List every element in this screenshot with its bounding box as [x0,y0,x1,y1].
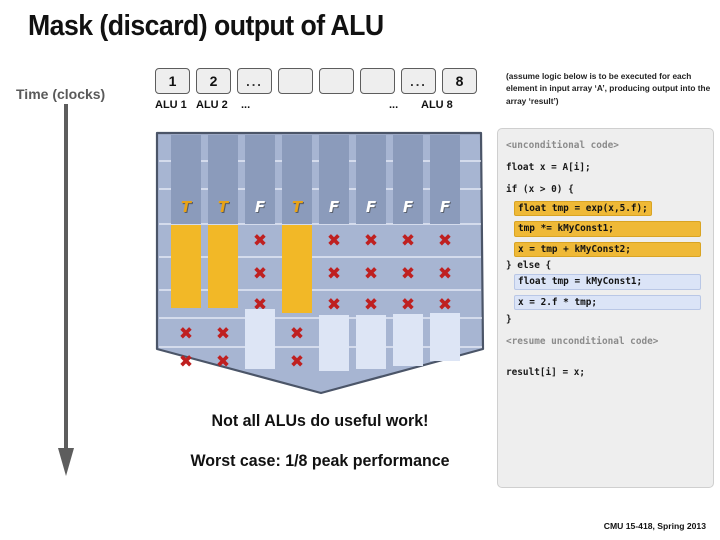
caption-line-1: Not all ALUs do useful work! [151,411,489,431]
mask-letter-col5: F [319,191,349,223]
else-branch-block-col3 [245,309,275,369]
masked-x-r4c3: ✖ [245,225,275,257]
code-line-8: } else { [506,258,707,273]
alu-name-dots-right: ... [389,99,398,111]
alu-name-row: ALU 1 ALU 2 ... ... ALU 8 [155,99,485,115]
masked-x-r5c8: ✖ [430,258,460,290]
code-text-6: tmp *= kMyConst1; [514,221,701,236]
if-branch-block-col4 [282,225,312,313]
alu-name-dots-left: ... [241,99,250,111]
masked-x-r5c3: ✖ [245,258,275,290]
alu-box-8[interactable]: 8 [442,68,477,94]
alu-box-2[interactable]: 2 [196,68,231,94]
code-gap-12 [506,327,707,334]
page-title: Mask (discard) output of ALU [28,10,384,43]
alu-header: 1 2 ... ... 8 ALU 1 ALU 2 ... ... ALU 8 [155,68,485,120]
code-line-10: x = 2.f * tmp; [506,295,707,310]
code-gap-3 [506,175,707,182]
alu-box-dots-left[interactable]: ... [237,68,272,94]
code-text-11: } [506,315,512,324]
masked-x-r4c8: ✖ [430,225,460,257]
masked-x-r7c2: ✖ [208,319,238,349]
slide-root: Mask (discard) output of ALU Time (clock… [0,0,720,540]
code-panel[interactable]: <unconditional code> float x = A[i]; if … [497,128,714,488]
else-branch-block-col7 [393,314,423,366]
code-line-13: <resume unconditional code> [506,334,707,349]
mask-letter-col8: F [430,191,460,223]
caption-line-2: Worst case: 1/8 peak performance [151,451,489,471]
code-line-0: <unconditional code> [506,138,707,153]
else-branch-block-col8 [430,313,460,361]
assumption-note: (assume logic below is to be executed fo… [506,70,714,107]
alu-box-5[interactable] [319,68,354,94]
code-line-2: float x = A[i]; [506,160,707,175]
mask-letter-col1: T [171,191,201,223]
code-text-9: float tmp = kMyConst1; [514,274,701,289]
code-line-6: tmp *= kMyConst1; [506,221,707,236]
time-axis-label: Time (clocks) [16,86,105,102]
masked-x-r4c7: ✖ [393,225,423,257]
else-branch-block-col6 [356,315,386,369]
code-text-15: result[i] = x; [506,368,585,377]
code-line-5: float tmp = exp(x,5.f); [506,201,707,216]
masked-x-r7c4: ✖ [282,319,312,349]
code-text-8: } else { [506,261,551,270]
slide-footer: CMU 15-418, Spring 2013 [604,521,706,531]
code-text-0: <unconditional code> [506,141,619,150]
masked-x-r5c5: ✖ [319,258,349,290]
code-text-4: if (x > 0) { [506,185,574,194]
code-text-13: <resume unconditional code> [506,337,658,346]
else-branch-block-col5 [319,315,349,371]
mask-letter-col3: F [245,191,275,223]
masked-x-r5c6: ✖ [356,258,386,290]
alu-name-8: ALU 8 [421,99,453,111]
masked-x-r5c7: ✖ [393,258,423,290]
code-gap-14 [506,349,707,365]
code-line-11: } [506,312,707,327]
if-branch-block-col2 [208,225,238,308]
alu-box-row: 1 2 ... ... 8 [155,68,485,94]
code-text-5: float tmp = exp(x,5.f); [514,201,652,216]
mask-letter-col7: F [393,191,423,223]
masked-x-r8c2: ✖ [208,347,238,377]
masked-x-r4c5: ✖ [319,225,349,257]
code-line-7: x = tmp + kMyConst2; [506,242,707,257]
mask-letter-col2: T [208,191,238,223]
code-text-7: x = tmp + kMyConst2; [514,242,701,257]
masked-x-r4c6: ✖ [356,225,386,257]
code-line-15: result[i] = x; [506,365,707,380]
alu-name-1: ALU 1 [155,99,187,111]
alu-box-6[interactable] [360,68,395,94]
mask-letter-col6: F [356,191,386,223]
code-text-10: x = 2.f * tmp; [514,295,701,310]
alu-box-4[interactable] [278,68,313,94]
execution-cells: T T F T F F F F ✖ ✖ ✖ ✖ ✖ ✖ ✖ ✖ ✖ ✖ ✖ ✖ … [153,131,485,396]
alu-name-2: ALU 2 [196,99,228,111]
masked-x-r8c1: ✖ [171,347,201,377]
time-down-arrow-icon [58,104,74,476]
code-gap-1 [506,153,707,160]
if-branch-block-col1 [171,225,201,308]
code-line-4: if (x > 0) { [506,182,707,197]
masked-x-r8c4: ✖ [282,347,312,377]
alu-box-1[interactable]: 1 [155,68,190,94]
alu-box-dots-right[interactable]: ... [401,68,436,94]
code-text-2: float x = A[i]; [506,163,591,172]
code-line-9: float tmp = kMyConst1; [506,274,707,289]
execution-diagram: T T F T F F F F ✖ ✖ ✖ ✖ ✖ ✖ ✖ ✖ ✖ ✖ ✖ ✖ … [153,131,485,396]
mask-letter-col4: T [282,191,312,223]
masked-x-r7c1: ✖ [171,319,201,349]
